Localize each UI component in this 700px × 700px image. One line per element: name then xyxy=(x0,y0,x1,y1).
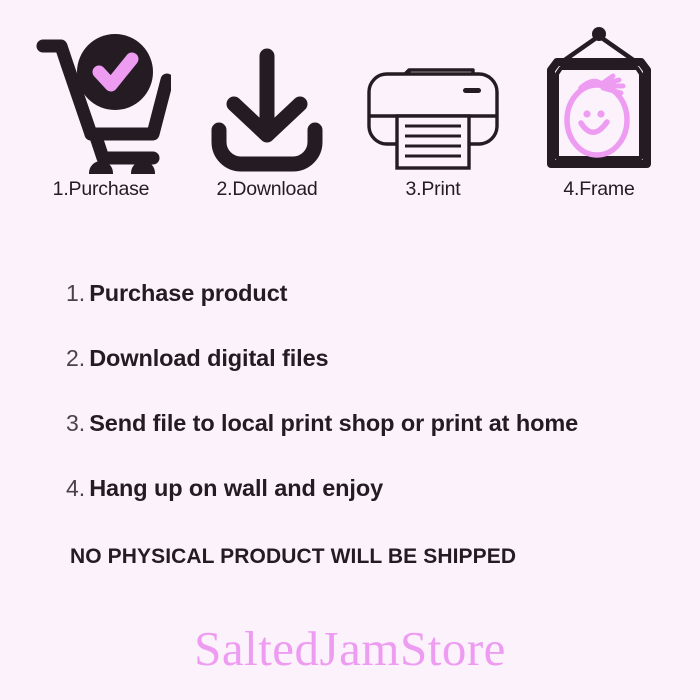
download-tray-icon xyxy=(207,26,327,174)
list-item-number: 4. xyxy=(66,475,85,502)
steps-row: 1.Purchase 2.Download xyxy=(0,16,700,201)
list-item: 1. Purchase product xyxy=(66,280,666,345)
list-item-text: Send file to local print shop or print a… xyxy=(89,410,578,437)
step-download: 2.Download xyxy=(192,26,342,201)
list-item: 3. Send file to local print shop or prin… xyxy=(66,410,666,475)
list-item-number: 3. xyxy=(66,410,85,437)
disclaimer-text: NO PHYSICAL PRODUCT WILL BE SHIPPED xyxy=(70,545,516,569)
step-purchase: 1.Purchase xyxy=(26,26,176,201)
step-label: 2.Download xyxy=(217,178,318,201)
list-item-text: Purchase product xyxy=(89,280,287,307)
step-label: 4.Frame xyxy=(563,178,634,201)
step-frame: 4.Frame xyxy=(524,26,674,201)
step-label: 1.Purchase xyxy=(53,178,150,201)
printer-icon xyxy=(363,26,503,174)
hanging-picture-frame-icon xyxy=(537,26,661,174)
list-item-number: 1. xyxy=(66,280,85,307)
digital-product-instructions-graphic: 1.Purchase 2.Download xyxy=(0,0,700,700)
shopping-cart-check-icon xyxy=(31,26,171,174)
list-item: 4. Hang up on wall and enjoy xyxy=(66,475,666,540)
instructions-list: 1. Purchase product 2. Download digital … xyxy=(66,280,666,540)
brand-wordmark: SaltedJamStore xyxy=(0,620,700,677)
step-print: 3.Print xyxy=(358,26,508,201)
list-item-number: 2. xyxy=(66,345,85,372)
list-item-text: Download digital files xyxy=(89,345,328,372)
step-label: 3.Print xyxy=(406,178,461,201)
list-item: 2. Download digital files xyxy=(66,345,666,410)
list-item-text: Hang up on wall and enjoy xyxy=(89,475,383,502)
